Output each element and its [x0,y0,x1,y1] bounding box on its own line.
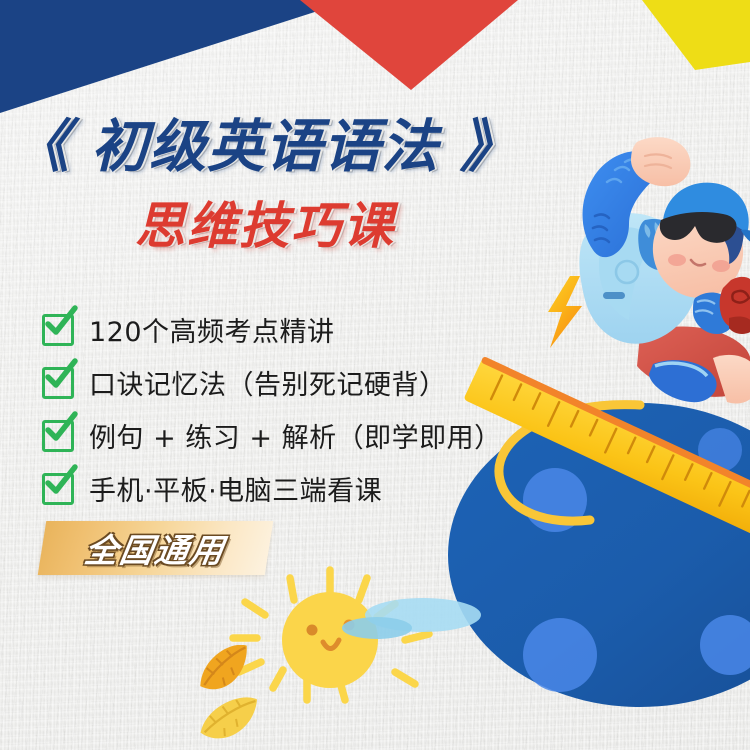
checkbox-checked-icon [42,367,74,399]
feature-item: 口诀记忆法（告别死记硬背） [42,356,502,409]
poster-subtitle: 思维技巧课 [0,186,530,258]
poster-title: 《 初级英语语法 》 [0,118,530,178]
feature-label: 例句 + 练习 + 解析（即学即用） [89,416,502,455]
checkbox-checked-icon [42,420,74,452]
poster-canvas: 《 初级英语语法 》 思维技巧课 120个高频考点精讲 口诀记忆法（告别死记硬背… [0,0,750,750]
headline-block: 《 初级英语语法 》 思维技巧课 [0,118,530,258]
autumn-leaves-icon [185,645,315,750]
feature-item: 例句 + 练习 + 解析（即学即用） [42,409,502,462]
feature-label: 120个高频考点精讲 [89,310,335,349]
feature-label: 手机·平板·电脑三端看课 [89,469,382,508]
checkbox-checked-icon [42,473,74,505]
feature-item: 手机·平板·电脑三端看课 [42,462,502,515]
badge-label: 全国通用 [38,521,274,575]
feature-label: 口诀记忆法（告别死记硬背） [89,363,447,402]
feature-list: 120个高频考点精讲 口诀记忆法（告别死记硬背） 例句 + 练习 + 解析（即学… [42,303,502,515]
feature-item: 120个高频考点精讲 [42,303,502,356]
checkbox-checked-icon [42,314,74,346]
